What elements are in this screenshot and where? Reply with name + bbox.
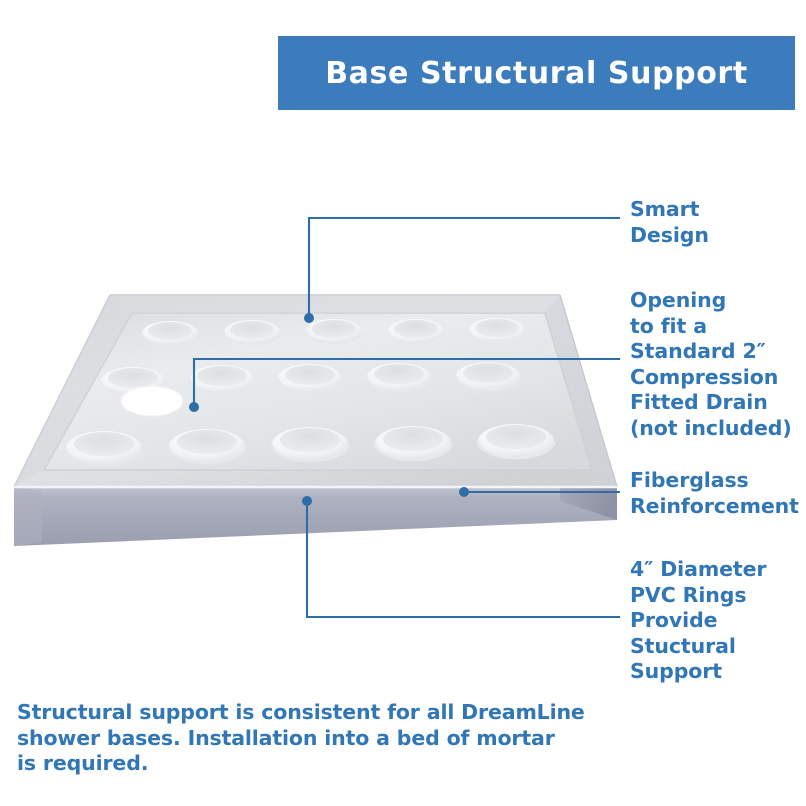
pvc-ring	[66, 431, 142, 465]
pvc-ring	[142, 321, 198, 345]
drain-opening	[121, 386, 183, 416]
callout-line: Design	[630, 223, 709, 249]
pvc-ring	[169, 429, 245, 463]
pvc-ring	[306, 319, 362, 343]
callout-line: to fit a	[630, 314, 792, 340]
pvc-ring	[224, 320, 280, 344]
callout-fiberglass: Fiberglass Reinforcement	[630, 468, 799, 519]
pvc-ring	[388, 319, 444, 343]
infographic-page: Base Structural Support Smart Design Ope…	[0, 0, 806, 806]
callout-line: Standard 2″	[630, 339, 792, 365]
callout-line: Stuctural	[630, 634, 766, 660]
callout-line: Provide	[630, 608, 766, 634]
callout-line: Support	[630, 659, 766, 685]
caption-line: is required.	[17, 751, 557, 777]
pvc-ring	[456, 362, 520, 390]
pvc-ring	[278, 364, 342, 392]
pvc-ring	[272, 427, 348, 461]
base-left-bevel	[14, 487, 42, 546]
title-banner: Base Structural Support	[278, 36, 795, 110]
callout-pvc-rings: 4″ Diameter PVC Rings Provide Stuctural …	[630, 557, 766, 685]
pvc-ring	[469, 318, 525, 342]
callout-line: PVC Rings	[630, 583, 766, 609]
callout-line: (not included)	[630, 416, 792, 442]
caption-line: shower bases. Installation into a bed of…	[17, 726, 557, 752]
callout-line: Smart	[630, 197, 709, 223]
base-front-face	[14, 487, 617, 546]
callout-line: Opening	[630, 288, 792, 314]
callout-line: Reinforcement	[630, 494, 799, 520]
bottom-caption: Structural support is consistent for all…	[17, 700, 557, 777]
page-title: Base Structural Support	[325, 56, 748, 91]
callout-smart-design: Smart Design	[630, 197, 709, 248]
pvc-ring	[478, 424, 554, 458]
pvc-ring	[190, 365, 254, 393]
callout-line: Fiberglass	[630, 468, 799, 494]
caption-line: Structural support is consistent for all…	[17, 700, 557, 726]
callout-drain-opening: Opening to fit a Standard 2″ Compression…	[630, 288, 792, 441]
pvc-ring	[375, 426, 451, 460]
callout-line: 4″ Diameter	[630, 557, 766, 583]
pvc-ring	[367, 363, 431, 391]
callout-line: Compression	[630, 365, 792, 391]
callout-line: Fitted Drain	[630, 390, 792, 416]
base-inner-back-shade	[110, 295, 560, 313]
